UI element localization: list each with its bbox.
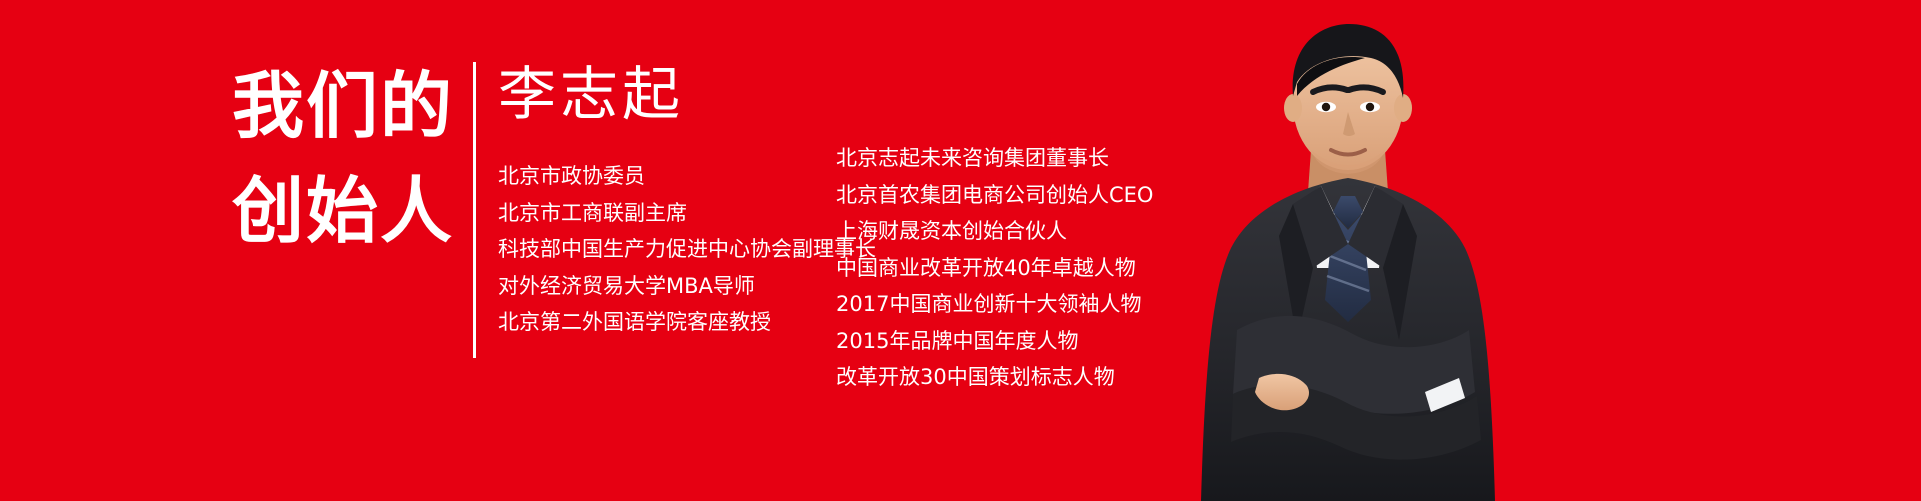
page-title-line-1: 我们的 bbox=[232, 54, 462, 159]
credentials-right-column: 北京志起未来咨询集团董事长 北京首农集团电商公司创始人CEO 上海财晟资本创始合… bbox=[836, 140, 1153, 396]
list-item: 北京市政协委员 bbox=[498, 158, 876, 195]
portrait-illustration bbox=[1193, 0, 1503, 501]
list-item: 改革开放30中国策划标志人物 bbox=[836, 359, 1153, 396]
founder-name: 李志起 bbox=[498, 62, 684, 126]
list-item: 2015年品牌中国年度人物 bbox=[836, 323, 1153, 360]
list-item: 科技部中国生产力促进中心协会副理事长 bbox=[498, 231, 876, 268]
vertical-divider bbox=[473, 62, 476, 358]
list-item: 对外经济贸易大学MBA导师 bbox=[498, 268, 876, 305]
credentials-left-column: 北京市政协委员 北京市工商联副主席 科技部中国生产力促进中心协会副理事长 对外经… bbox=[498, 158, 876, 341]
list-item: 北京市工商联副主席 bbox=[498, 195, 876, 232]
list-item: 中国商业改革开放40年卓越人物 bbox=[836, 250, 1153, 287]
founder-banner: 我们的 创始人 李志起 北京市政协委员 北京市工商联副主席 科技部中国生产力促进… bbox=[0, 0, 1921, 501]
list-item: 北京第二外国语学院客座教授 bbox=[498, 304, 876, 341]
page-title: 我们的 创始人 bbox=[232, 54, 462, 264]
list-item: 北京首农集团电商公司创始人CEO bbox=[836, 177, 1153, 214]
page-title-line-2: 创始人 bbox=[232, 159, 462, 264]
list-item: 上海财晟资本创始合伙人 bbox=[836, 213, 1153, 250]
list-item: 2017中国商业创新十大领袖人物 bbox=[836, 286, 1153, 323]
founder-portrait bbox=[1193, 0, 1503, 501]
list-item: 北京志起未来咨询集团董事长 bbox=[836, 140, 1153, 177]
